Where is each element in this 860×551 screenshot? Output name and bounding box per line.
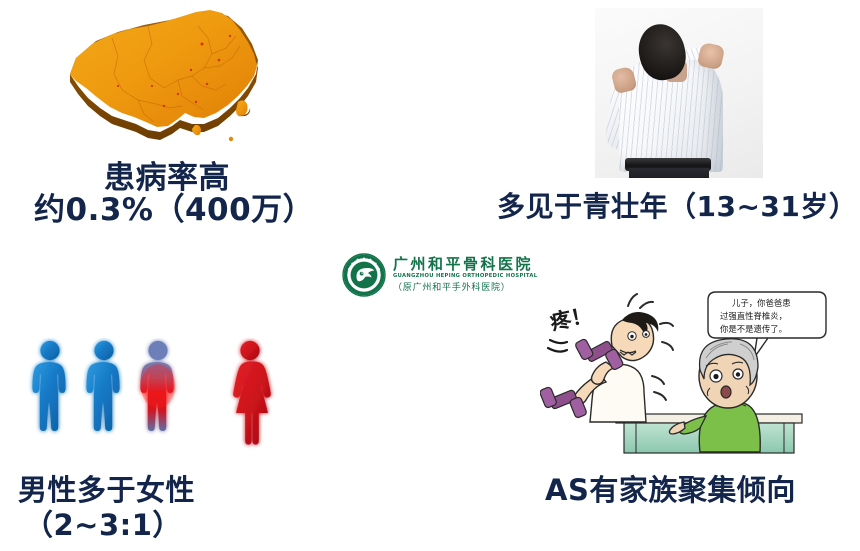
hospital-name-en: GUANGZHOU HEPING ORTHOPEDIC HOSPITAL [393, 273, 537, 281]
figure-male-1 [32, 341, 65, 431]
svg-text:你是不是遗传了。: 你是不是遗传了。 [720, 324, 787, 334]
hospital-seal-emblem-icon [342, 253, 386, 297]
family-headline: AS有家族聚集倾向 [545, 473, 796, 507]
man-stretching-photo [595, 8, 763, 178]
figure-male-2 [86, 341, 119, 431]
photo-trousers [629, 168, 709, 178]
gender-headline-line1: 男性多于女性 [18, 473, 195, 507]
poster-canvas: 患病率高 约0.3%（400万） 多见于青壮年（13~31岁） 男性多于女性 （… [0, 0, 860, 551]
svg-text:过强直性脊椎炎，: 过强直性脊椎炎， [720, 311, 787, 321]
photo-right-fist [697, 42, 725, 70]
figure-male-3-affected [140, 341, 175, 431]
hospital-name-alt: （原广州和平手外科医院） [393, 283, 537, 294]
gender-pictograms-icon [28, 338, 318, 460]
hospital-logo: 广州和平骨科医院 GUANGZHOU HEPING ORTHOPEDIC HOS… [342, 250, 538, 300]
figure-female-1 [233, 341, 271, 445]
cartoon-mother-and-son-icon: 疼！ 儿子，你爸爸患 过强直性脊椎炎， 你是不是遗传了。 [540, 288, 858, 460]
svg-text:儿子，你爸爸患: 儿子，你爸爸患 [732, 298, 791, 308]
prevalence-headline-line2: 约0.3%（400万） [34, 192, 314, 229]
hospital-logo-text: 广州和平骨科医院 GUANGZHOU HEPING ORTHOPEDIC HOS… [393, 256, 537, 294]
hospital-name-cn: 广州和平骨科医院 [393, 256, 537, 273]
gender-headline-line2: （2~3:1） [24, 508, 182, 542]
svg-text:疼！: 疼！ [548, 303, 594, 335]
age-headline: 多见于青壮年（13~31岁） [497, 190, 857, 223]
china-map-icon [52, 8, 288, 158]
